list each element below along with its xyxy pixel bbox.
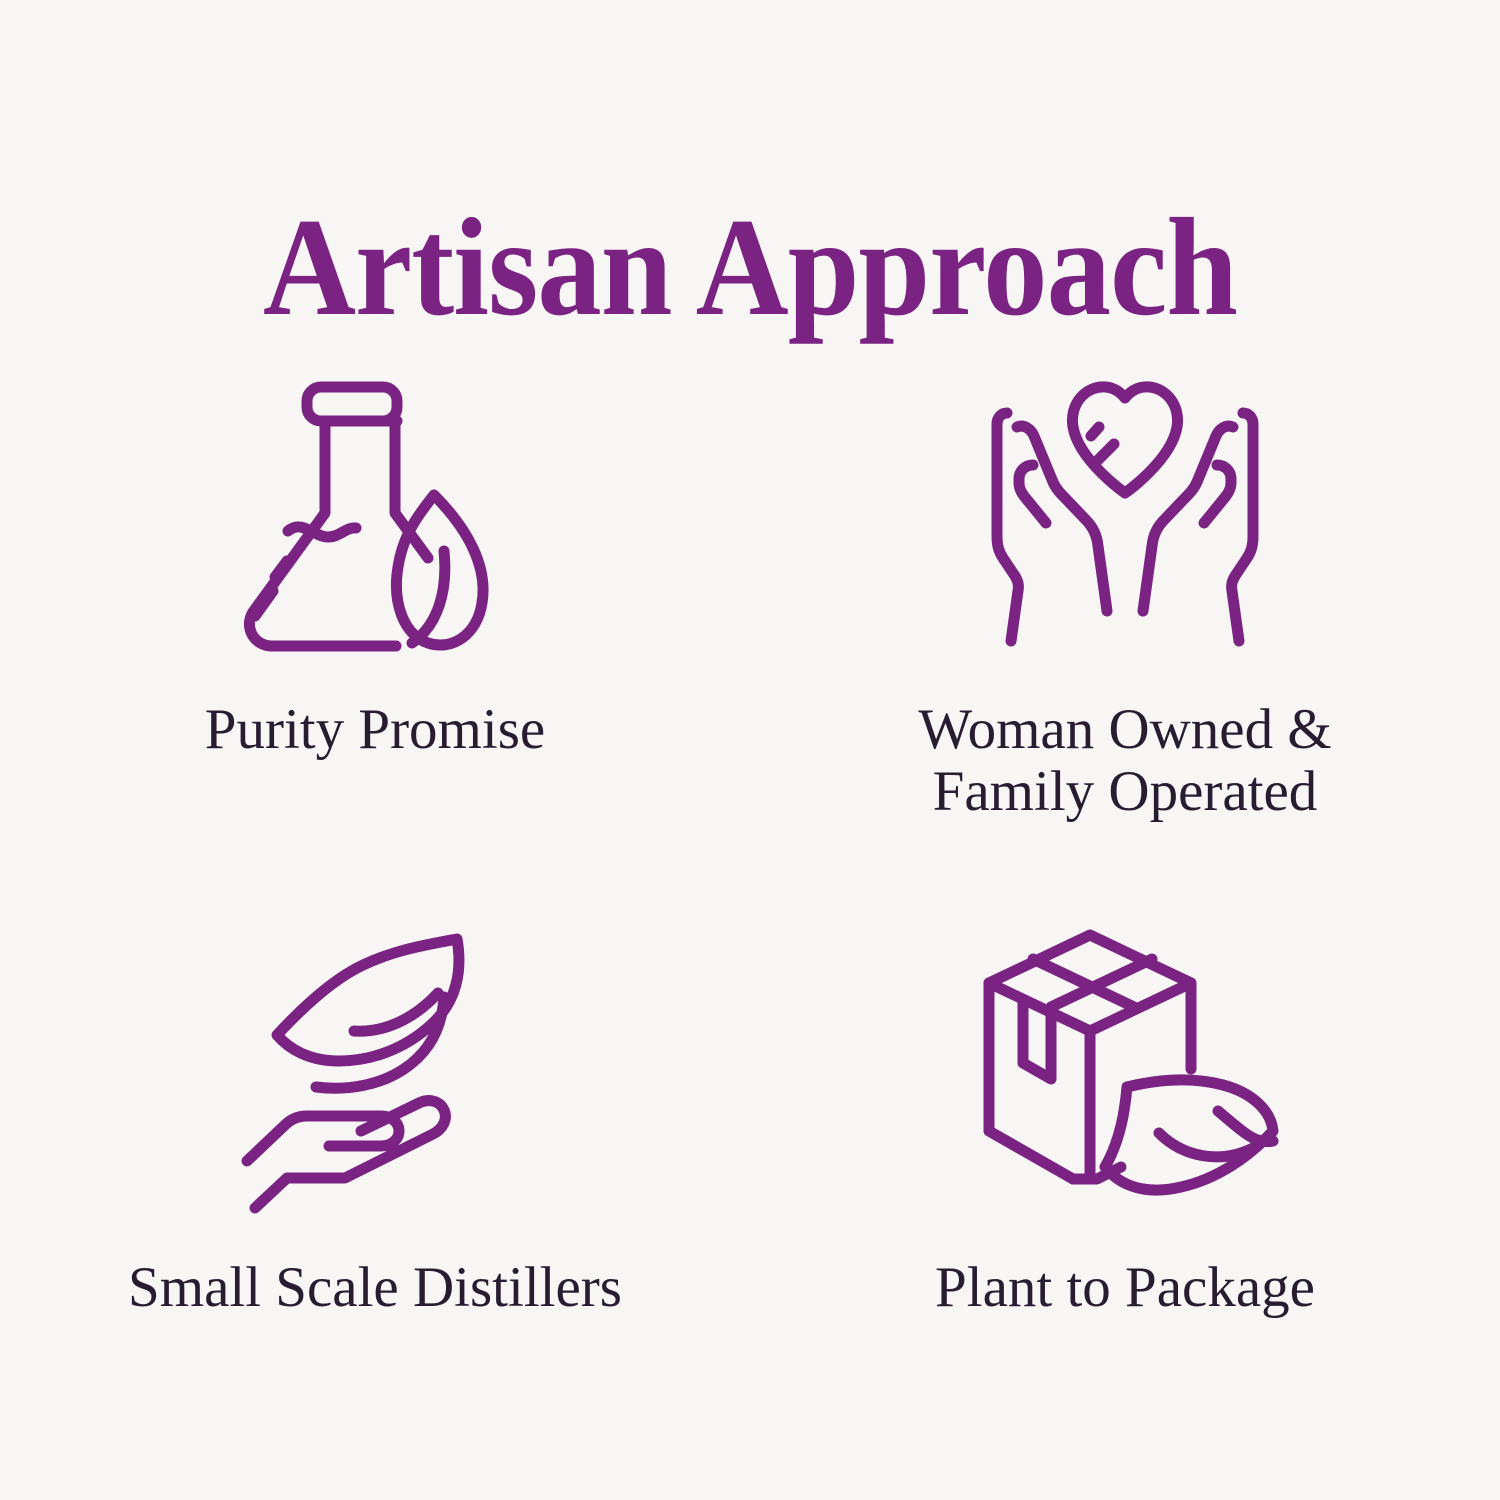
feature-item-woman-owned: Woman Owned & Family Operated	[750, 355, 1500, 875]
feature-item-small-scale-distillers: Small Scale Distillers	[0, 875, 750, 1395]
box-leaf-icon	[975, 921, 1275, 1211]
feature-label: Woman Owned & Family Operated	[845, 699, 1405, 822]
feature-item-plant-to-package: Plant to Package	[750, 875, 1500, 1395]
leaf-in-hand-icon	[225, 921, 525, 1211]
flask-leaf-icon	[225, 365, 525, 655]
feature-grid: Purity Promise	[0, 355, 1500, 1395]
feature-label: Plant to Package	[845, 1257, 1405, 1319]
hands-heart-icon	[975, 365, 1275, 655]
feature-label: Small Scale Distillers	[95, 1257, 655, 1319]
artisan-approach-panel: Artisan Approach	[0, 0, 1500, 1500]
feature-item-purity-promise: Purity Promise	[0, 355, 750, 875]
feature-label: Purity Promise	[95, 699, 655, 761]
page-title: Artisan Approach	[60, 198, 1440, 338]
